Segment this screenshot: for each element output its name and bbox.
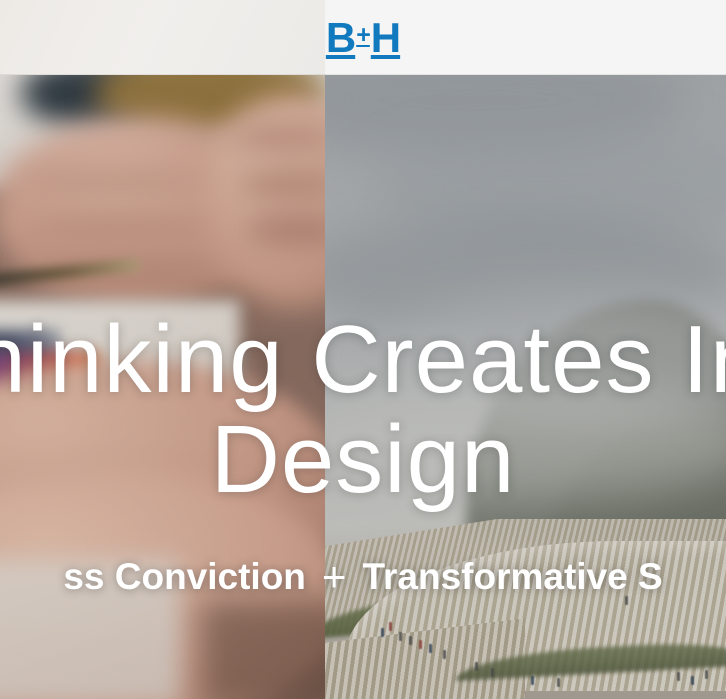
left-photo-veil	[0, 0, 325, 699]
bh-logo[interactable]: B + H	[326, 17, 400, 59]
roof-person	[419, 640, 422, 649]
roof-person	[381, 628, 384, 637]
right-photo-roof	[325, 519, 726, 699]
roof-person	[475, 662, 478, 671]
roof-person	[625, 596, 628, 605]
roof-person	[389, 622, 392, 631]
roof-person	[491, 668, 494, 677]
roof-person	[409, 636, 412, 645]
logo-plus-icon: +	[356, 23, 370, 48]
roof-person	[691, 676, 694, 685]
roof-person	[705, 670, 708, 679]
roof-person	[399, 632, 402, 641]
logo-letter-b: B	[326, 17, 355, 59]
logo-letter-h: H	[371, 17, 400, 59]
hero-background	[0, 0, 726, 699]
roof-person	[557, 678, 560, 687]
roof-person	[443, 650, 446, 659]
right-photo-fog-5	[325, 380, 726, 500]
hero-image-left	[0, 0, 325, 699]
hero-image-right	[325, 0, 726, 699]
roof-person	[429, 644, 432, 653]
site-header: B + H	[0, 0, 726, 75]
roof-person	[677, 672, 680, 681]
page-root: B + H Thinking Creates Ins Design ss Con…	[0, 0, 726, 699]
roof-person	[531, 676, 534, 685]
